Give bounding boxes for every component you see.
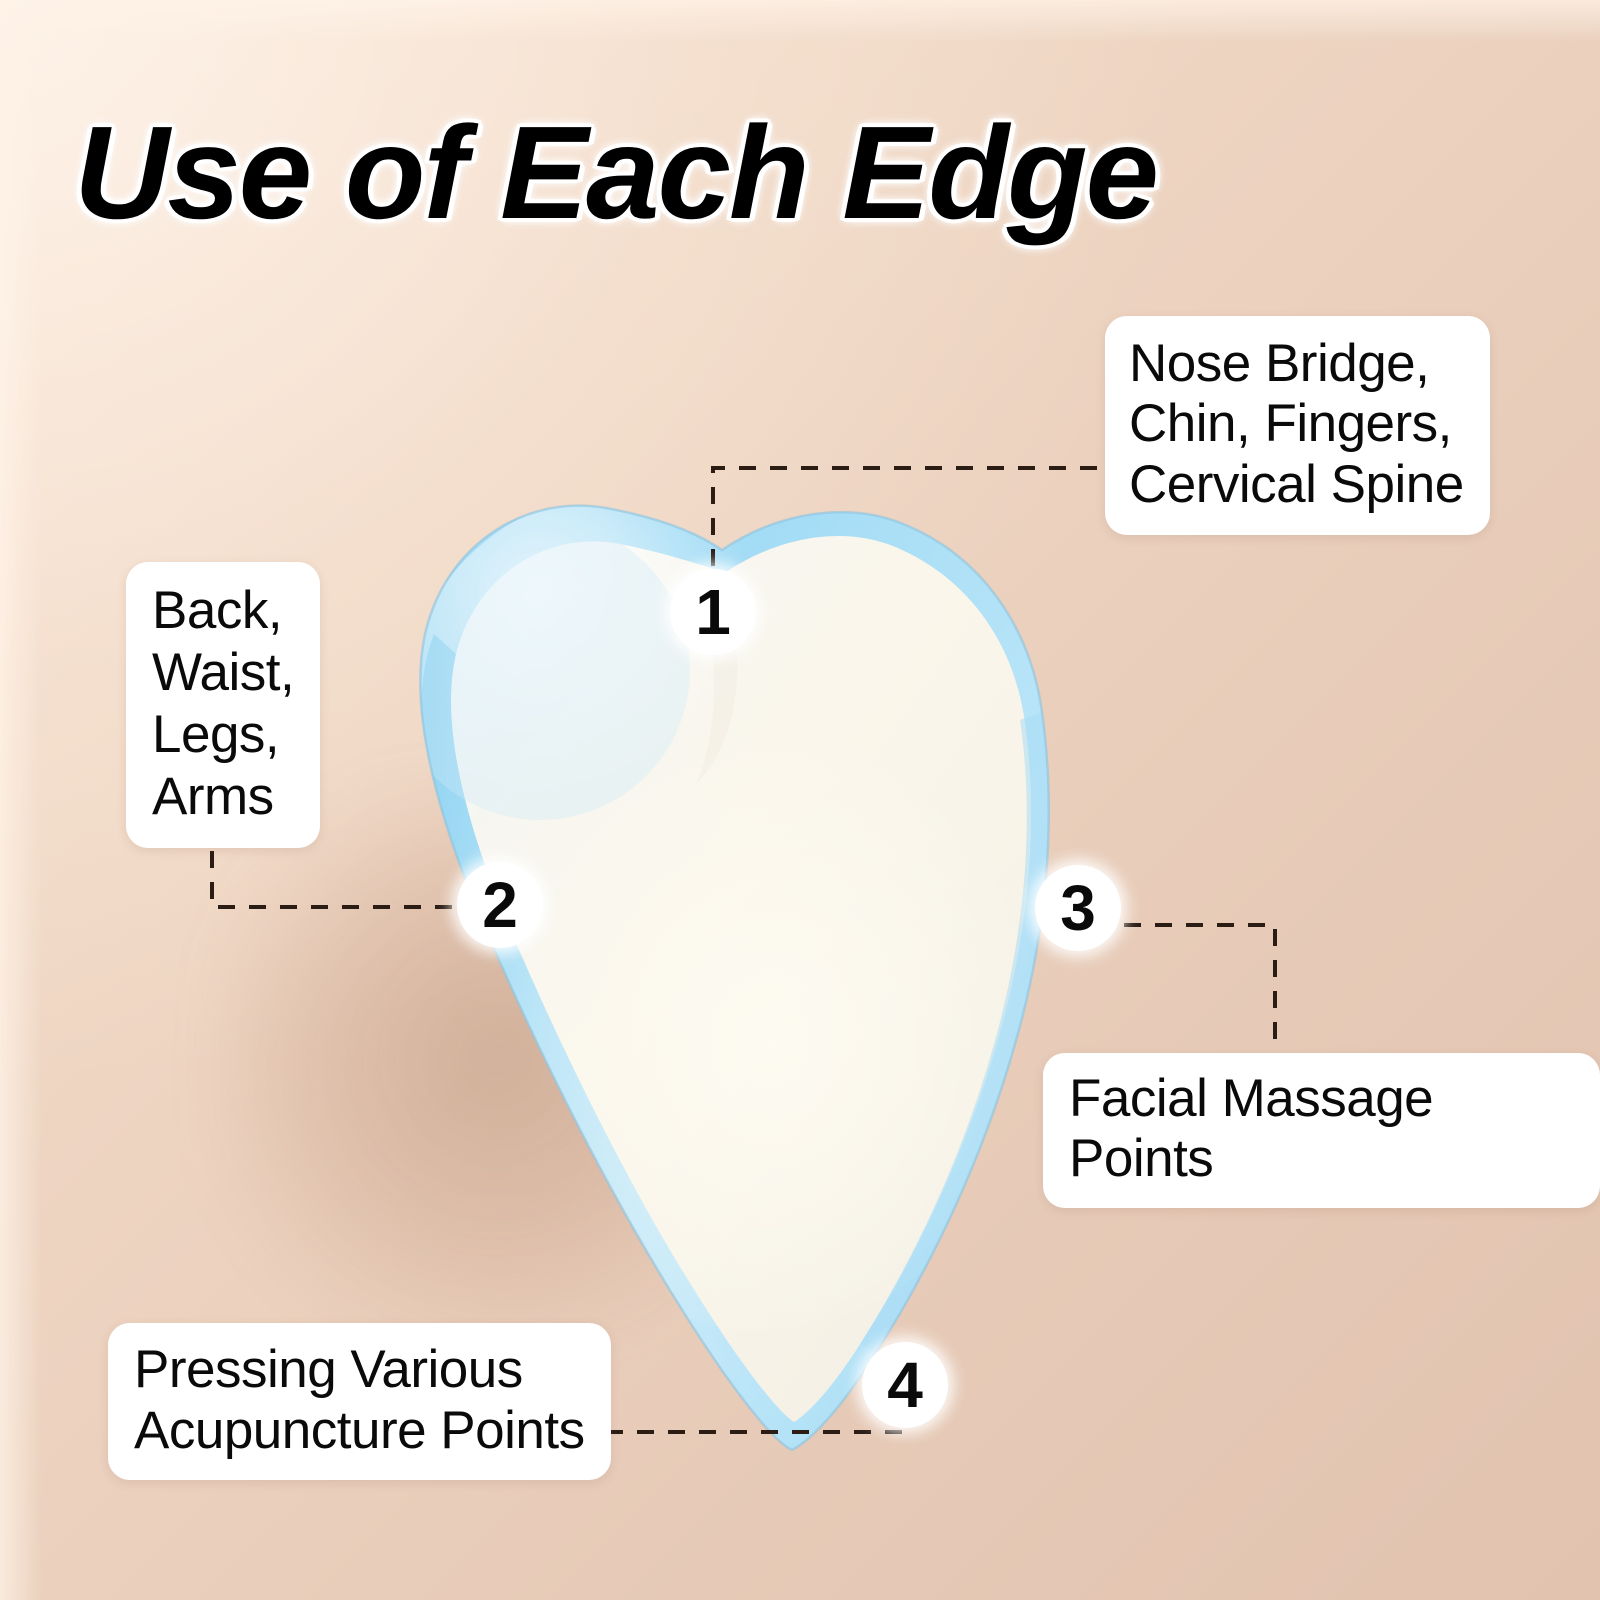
stone-illustration [330,420,1150,1470]
infographic-canvas: Use of Each Edge [0,0,1600,1600]
edge-marker-3-number: 3 [1060,876,1096,940]
callout-label-1: Nose Bridge, Chin, Fingers, Cervical Spi… [1105,316,1490,535]
edge-marker-3[interactable]: 3 [1035,865,1121,951]
gua-sha-stone [330,420,1150,1470]
callout-label-3: Facial Massage Points [1043,1053,1600,1208]
edge-marker-1[interactable]: 1 [670,569,756,655]
edge-marker-1-number: 1 [695,580,731,644]
callout-label-2: Back, Waist, Legs, Arms [126,562,320,848]
stone-cool-wash [390,520,690,820]
edge-marker-4-number: 4 [887,1353,923,1417]
callout-label-4: Pressing Various Acupuncture Points [108,1323,611,1480]
page-title: Use of Each Edge [74,104,1157,243]
edge-marker-4[interactable]: 4 [862,1342,948,1428]
edge-marker-2[interactable]: 2 [457,862,543,948]
edge-marker-2-number: 2 [482,873,518,937]
